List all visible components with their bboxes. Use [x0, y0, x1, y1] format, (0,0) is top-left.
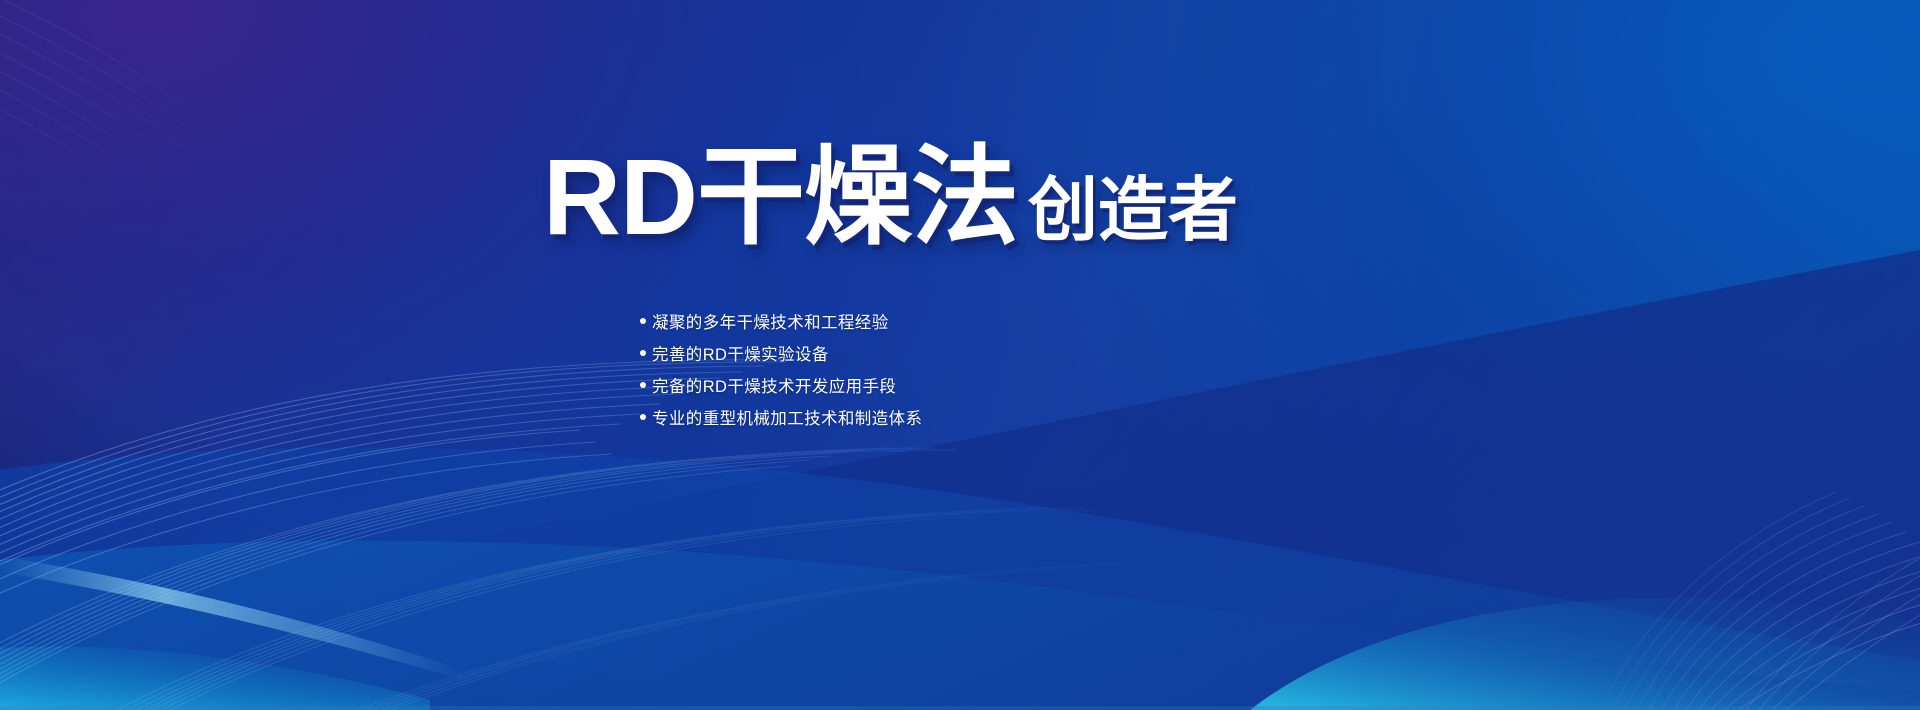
list-item: 完备的RD干燥技术开发应用手段 [640, 370, 922, 400]
bullet-point-icon [640, 318, 646, 324]
bullet-text: 专业的重型机械加工技术和制造体系 [652, 405, 922, 429]
banner-content: RD干燥法 创造者 凝聚的多年干燥技术和工程经验 完善的RD干燥实验设备 完备的… [0, 0, 1920, 710]
marketing-banner: RD干燥法 创造者 凝聚的多年干燥技术和工程经验 完善的RD干燥实验设备 完备的… [0, 0, 1920, 710]
headline: RD干燥法 创造者 [543, 143, 1238, 251]
list-item: 完善的RD干燥实验设备 [640, 338, 922, 368]
bullet-point-icon [640, 382, 646, 388]
bullet-point-icon [640, 350, 646, 356]
headline-main-text: RD干燥法 [543, 143, 1018, 251]
headline-sub-text: 创造者 [1028, 175, 1238, 245]
list-item: 凝聚的多年干燥技术和工程经验 [640, 306, 922, 336]
bullet-text: 完善的RD干燥实验设备 [652, 341, 829, 365]
bullet-text: 完备的RD干燥技术开发应用手段 [652, 373, 896, 397]
list-item: 专业的重型机械加工技术和制造体系 [640, 402, 922, 432]
feature-bullet-list: 凝聚的多年干燥技术和工程经验 完善的RD干燥实验设备 完备的RD干燥技术开发应用… [640, 306, 922, 434]
bullet-point-icon [640, 414, 646, 420]
bullet-text: 凝聚的多年干燥技术和工程经验 [652, 309, 889, 333]
